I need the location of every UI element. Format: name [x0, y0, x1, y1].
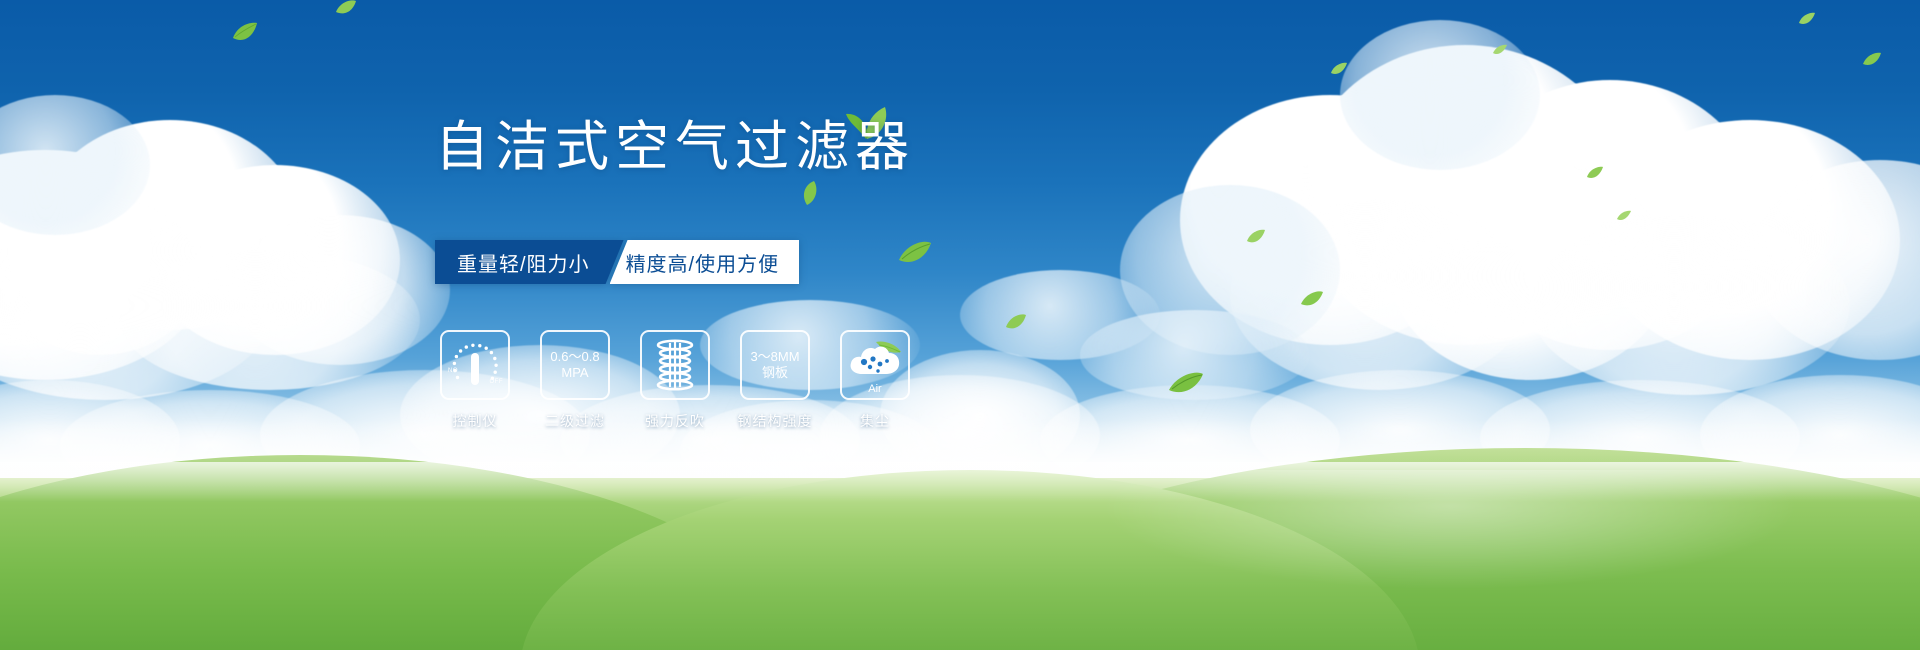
- feature-text-line1: 3～8MM: [750, 349, 799, 365]
- feature-item[interactable]: NO OFF 控制仪: [440, 330, 510, 431]
- feature-icon-box: 0.6～0.8 MPA: [540, 330, 610, 400]
- feature-item[interactable]: 0.6～0.8 MPA 二级过滤: [540, 330, 610, 431]
- tagline-left: 重量轻/阻力小: [435, 240, 624, 284]
- feature-icon-box: 3～8MM 钢板: [740, 330, 810, 400]
- feature-label: 强力反吹: [645, 411, 705, 431]
- feature-item[interactable]: Air 集尘: [840, 330, 910, 431]
- feature-label: 集尘: [860, 411, 890, 431]
- gauge-label-off: OFF: [490, 379, 504, 385]
- tagline-bar: 重量轻/阻力小 精度高/使用方便: [435, 240, 799, 284]
- tagline-right: 精度高/使用方便: [610, 240, 800, 284]
- gauge-label-no: NO: [448, 368, 458, 374]
- product-banner: 自洁式空气过滤器 重量轻/阻力小 精度高/使用方便: [0, 0, 1920, 650]
- feature-item[interactable]: 3～8MM 钢板 钢结构强度: [740, 330, 810, 431]
- feature-icon-box: NO OFF: [440, 330, 510, 400]
- dust-cloud-icon: [846, 340, 904, 382]
- feature-list: NO OFF 控制仪 0.6～0.8 MPA 二级过滤: [440, 330, 910, 431]
- feature-text-line1: 0.6～0.8: [550, 349, 599, 365]
- feature-label: 二级过滤: [545, 411, 605, 431]
- page-title: 自洁式空气过滤器: [435, 120, 915, 174]
- feature-icon-box: [640, 330, 710, 400]
- feature-item[interactable]: 强力反吹: [640, 330, 710, 431]
- feature-text-line2: 钢板: [762, 365, 788, 381]
- coil-icon: [649, 338, 701, 392]
- feature-label: 控制仪: [453, 411, 498, 431]
- feature-icon-box: Air: [840, 330, 910, 400]
- feature-text-line2: MPA: [561, 365, 588, 381]
- feature-label: 钢结构强度: [738, 411, 813, 431]
- feature-text-air: Air: [868, 383, 881, 397]
